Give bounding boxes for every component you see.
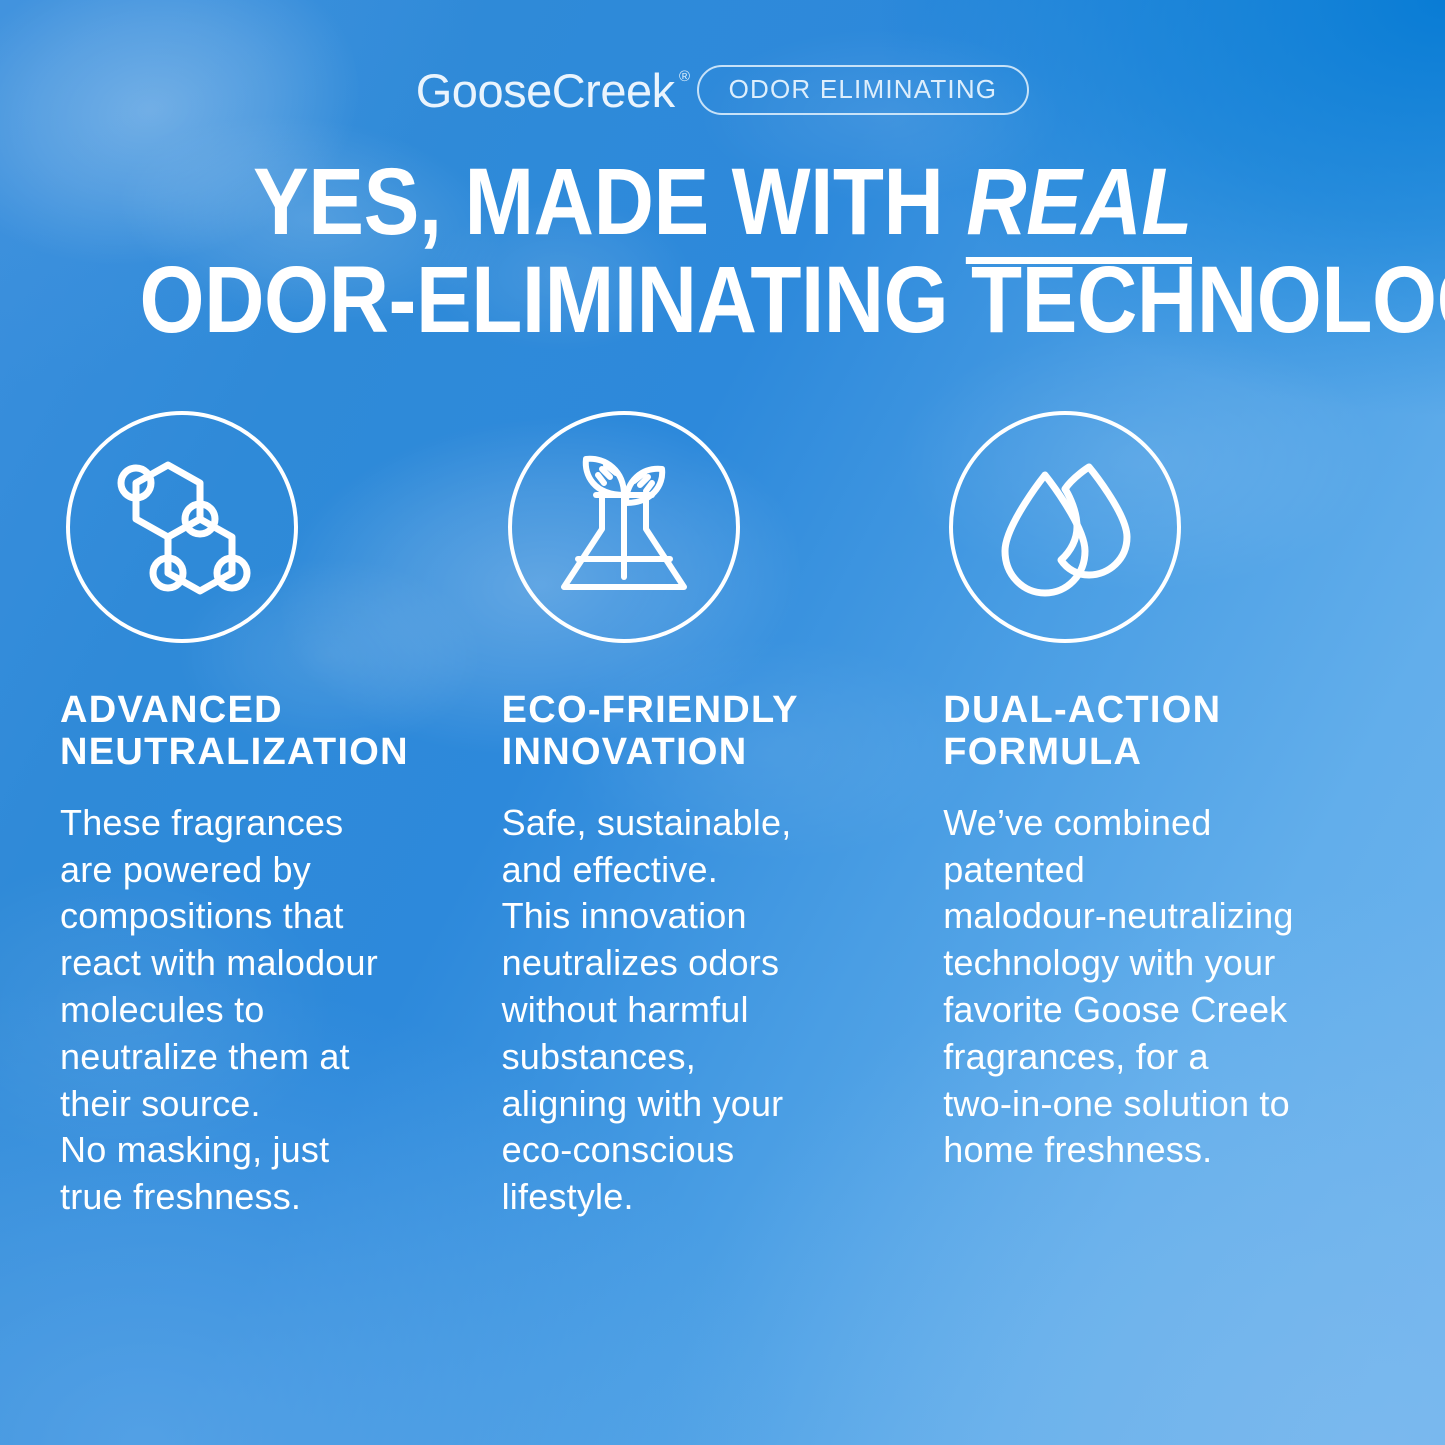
feature-body: These fragrances are powered by composit… bbox=[60, 800, 456, 1221]
water-droplets-icon bbox=[949, 411, 1181, 643]
goose-creek-logo: GooseCreek® bbox=[416, 67, 675, 114]
flask-sprout-icon bbox=[508, 411, 740, 643]
page-title: YES, MADE WITH REAL ODOR-ELIMINATING TEC… bbox=[60, 158, 1385, 345]
feature-heading: ECO-FRIENDLY INNOVATION bbox=[502, 689, 898, 774]
feature-column-advanced-neutralization: ADVANCED NEUTRALIZATION These fragrances… bbox=[60, 411, 502, 1221]
brand-bar: GooseCreek® ODOR ELIMINATING bbox=[60, 62, 1385, 118]
logo-text: GooseCreek bbox=[416, 64, 675, 117]
headline-line-2: ODOR-ELIMINATING TECHNOLOGY bbox=[140, 256, 1306, 344]
registered-trademark-icon: ® bbox=[679, 69, 690, 84]
feature-heading: ADVANCED NEUTRALIZATION bbox=[60, 689, 456, 774]
feature-body: Safe, sustainable, and effective. This i… bbox=[502, 800, 898, 1221]
promo-content: GooseCreek® ODOR ELIMINATING YES, MADE W… bbox=[0, 0, 1445, 1445]
odor-eliminating-badge: ODOR ELIMINATING bbox=[697, 65, 1030, 115]
feature-heading: DUAL-ACTION FORMULA bbox=[943, 689, 1385, 774]
feature-column-eco-friendly-innovation: ECO-FRIENDLY INNOVATION Safe, sustainabl… bbox=[502, 411, 944, 1221]
feature-body: We’ve combined patented malodour-neutral… bbox=[943, 800, 1385, 1174]
feature-columns: ADVANCED NEUTRALIZATION These fragrances… bbox=[60, 411, 1385, 1221]
headline-text-lead: YES, MADE WITH bbox=[253, 149, 966, 255]
molecule-icon bbox=[66, 411, 298, 643]
feature-column-dual-action-formula: DUAL-ACTION FORMULA We’ve combined paten… bbox=[943, 411, 1385, 1221]
headline-line-1: YES, MADE WITH REAL bbox=[140, 158, 1306, 246]
